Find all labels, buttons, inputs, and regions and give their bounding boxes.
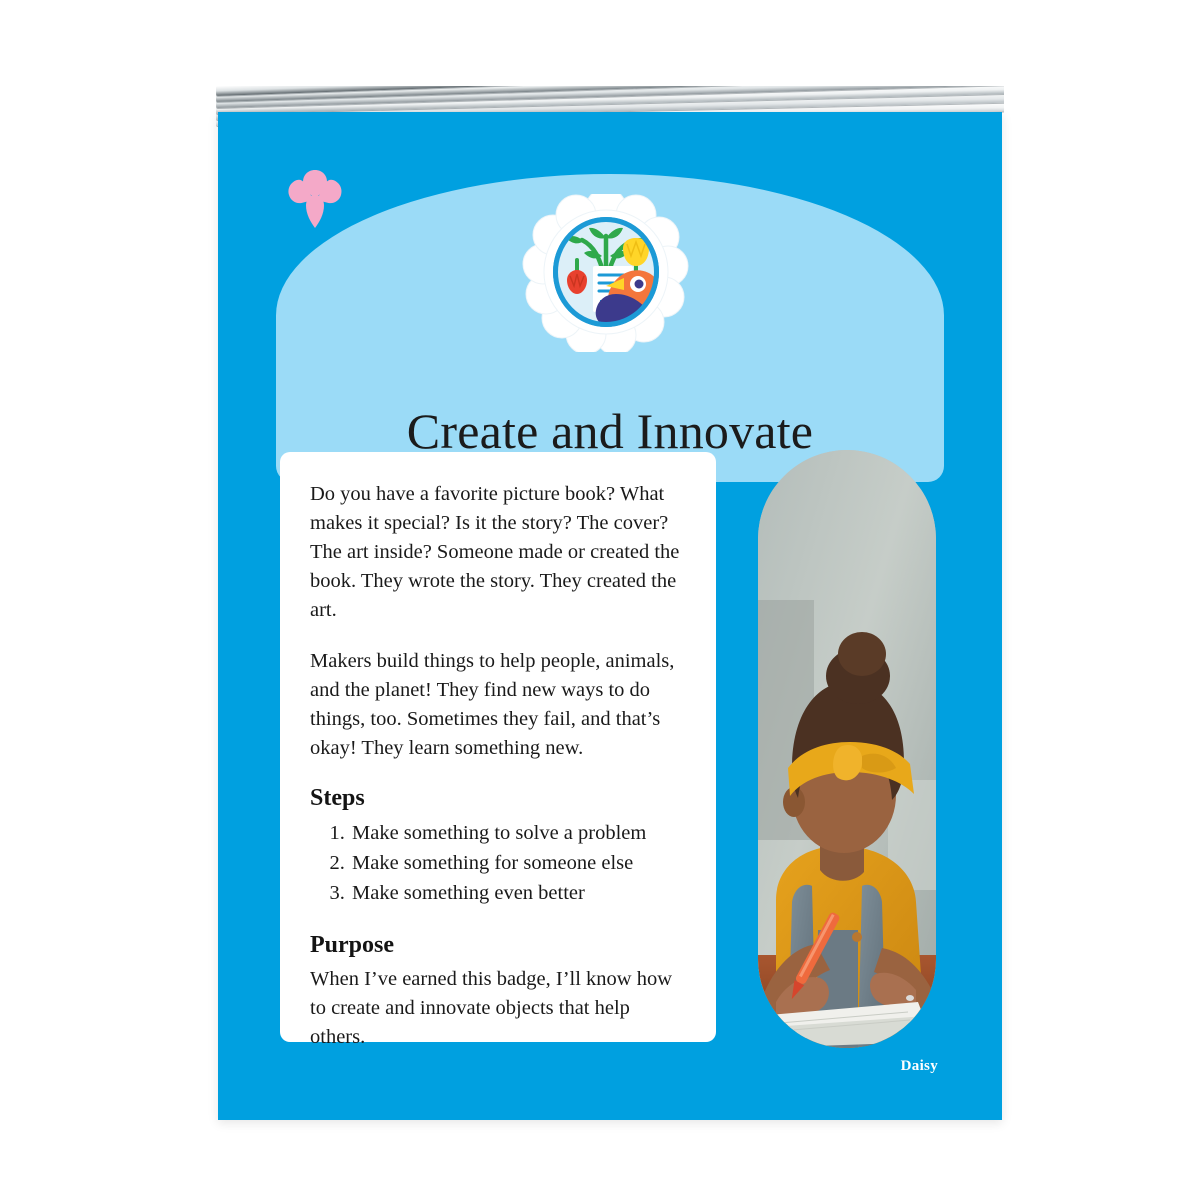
- booklet-cover: Create and Innovate: [218, 112, 1002, 1120]
- list-item: Make something to solve a problem: [350, 818, 686, 848]
- intro-paragraph-2: Makers build things to help people, anim…: [310, 647, 686, 763]
- screenshot-root: Create and Innovate: [0, 0, 1200, 1200]
- purpose-paragraph: When I’ve earned this badge, I’ll know h…: [310, 965, 686, 1052]
- list-item: Make something even better: [350, 878, 686, 908]
- content-card: Do you have a favorite picture book? Wha…: [280, 452, 716, 1042]
- steps-heading: Steps: [310, 785, 686, 812]
- steps-list: Make something to solve a problem Make s…: [310, 818, 686, 908]
- intro-paragraph-1: Do you have a favorite picture book? Wha…: [310, 480, 686, 625]
- list-item: Make something for someone else: [350, 848, 686, 878]
- girl-writing-photo: [758, 450, 936, 1048]
- trefoil-icon: [284, 164, 346, 232]
- purpose-heading: Purpose: [310, 932, 686, 959]
- level-label: Daisy: [901, 1058, 938, 1075]
- badge-emblem-icon: [520, 194, 692, 352]
